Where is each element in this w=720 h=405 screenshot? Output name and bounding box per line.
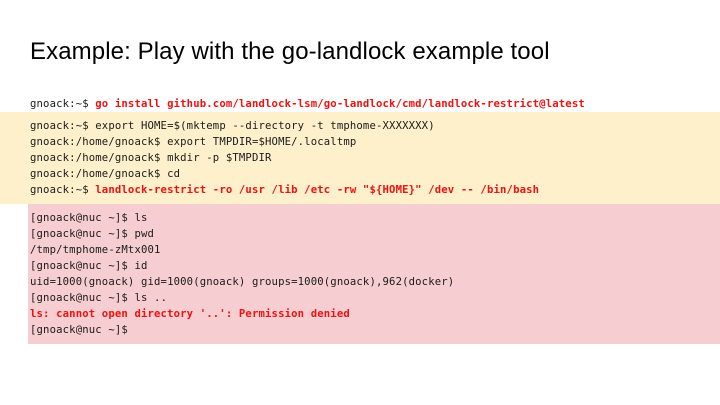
terminal-prompt: gnoack:/home/gnoack$ — [30, 152, 167, 164]
terminal-prompt: gnoack:~$ — [30, 184, 95, 196]
terminal-prompt: gnoack:~$ — [30, 98, 95, 110]
slide-root: Example: Play with the go-landlock examp… — [0, 0, 720, 405]
terminal-error-text: ls: cannot open directory '..': Permissi… — [30, 308, 350, 320]
terminal-output: ls .. — [134, 292, 167, 304]
terminal-line: [gnoack@nuc ~]$ — [28, 322, 720, 338]
terminal-output: mkdir -p $TMPDIR — [167, 152, 271, 164]
terminal-prompt: [gnoack@nuc ~]$ — [30, 292, 134, 304]
terminal-line: [gnoack@nuc ~]$ ls — [28, 210, 720, 226]
terminal-line: gnoack:/home/gnoack$ cd — [0, 166, 720, 182]
terminal-line: gnoack:~$ landlock-restrict -ro /usr /li… — [0, 182, 720, 198]
terminal-line: ls: cannot open directory '..': Permissi… — [28, 306, 720, 322]
terminal-output: uid=1000(gnoack) gid=1000(gnoack) groups… — [30, 276, 454, 288]
terminal-prompt: [gnoack@nuc ~]$ — [30, 260, 134, 272]
terminal-output: export TMPDIR=$HOME/.localtmp — [167, 136, 356, 148]
terminal-line: gnoack:~$ go install github.com/landlock… — [0, 96, 720, 112]
terminal-prompt: gnoack:~$ — [30, 120, 95, 132]
terminal-output: pwd — [134, 228, 154, 240]
terminal-prompt: gnoack:/home/gnoack$ — [30, 136, 167, 148]
page-title: Example: Play with the go-landlock examp… — [30, 38, 550, 66]
terminal-line: gnoack:/home/gnoack$ mkdir -p $TMPDIR — [0, 150, 720, 166]
terminal-output: /tmp/tmphome-zMtx001 — [30, 244, 161, 256]
terminal-line: gnoack:~$ export HOME=$(mktemp --directo… — [0, 118, 720, 134]
terminal-command: landlock-restrict -ro /usr /lib /etc -rw… — [95, 184, 539, 196]
terminal-command: go install github.com/landlock-lsm/go-la… — [95, 98, 585, 110]
terminal-output: cd — [167, 168, 180, 180]
terminal-output: ls — [134, 212, 147, 224]
terminal-transcript: gnoack:~$ go install github.com/landlock… — [0, 96, 720, 344]
highlight-band-end — [28, 338, 720, 344]
terminal-output: id — [134, 260, 147, 272]
terminal-line: uid=1000(gnoack) gid=1000(gnoack) groups… — [28, 274, 720, 290]
terminal-line: /tmp/tmphome-zMtx001 — [28, 242, 720, 258]
terminal-prompt: gnoack:/home/gnoack$ — [30, 168, 167, 180]
terminal-prompt: [gnoack@nuc ~]$ — [30, 324, 134, 336]
terminal-line: gnoack:/home/gnoack$ export TMPDIR=$HOME… — [0, 134, 720, 150]
terminal-prompt: [gnoack@nuc ~]$ — [30, 228, 134, 240]
terminal-prompt: [gnoack@nuc ~]$ — [30, 212, 134, 224]
terminal-line: [gnoack@nuc ~]$ pwd — [28, 226, 720, 242]
terminal-line: [gnoack@nuc ~]$ id — [28, 258, 720, 274]
terminal-line: [gnoack@nuc ~]$ ls .. — [28, 290, 720, 306]
terminal-output: export HOME=$(mktemp --directory -t tmph… — [95, 120, 434, 132]
